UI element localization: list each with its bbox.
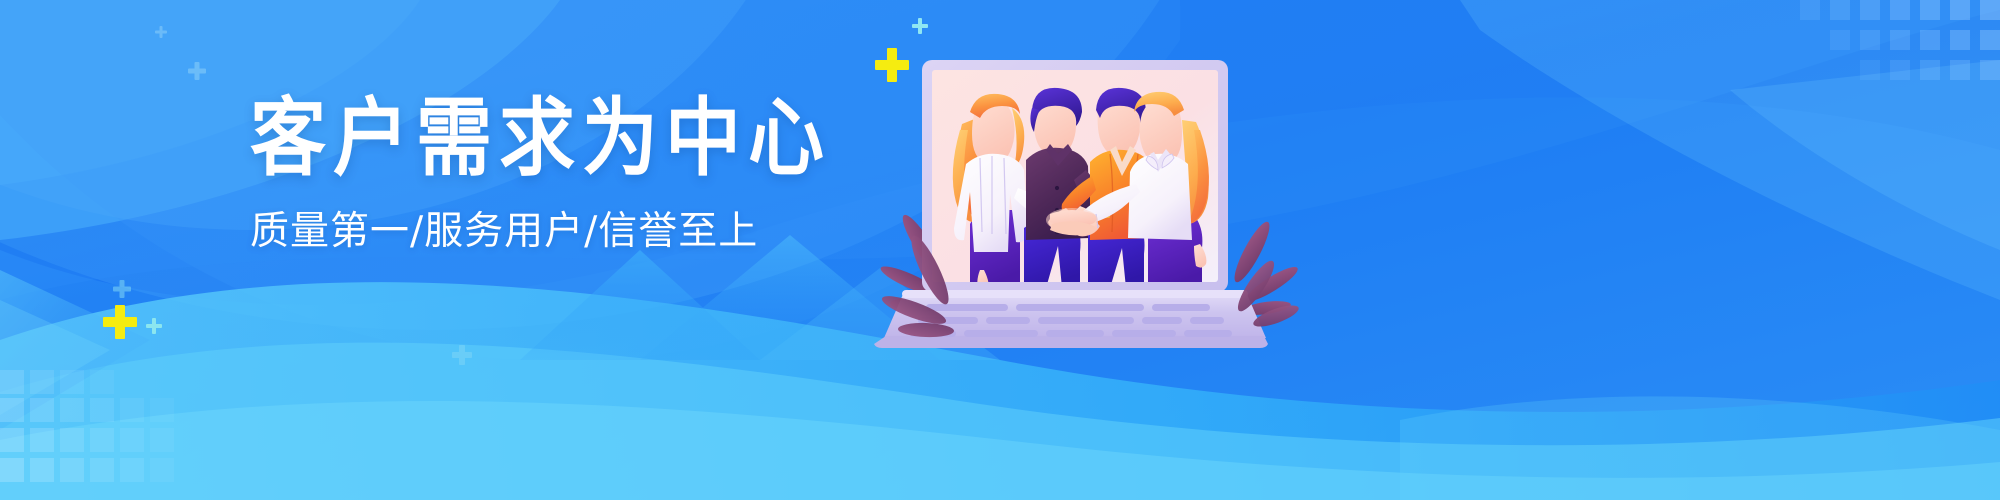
page-title: 客户需求为中心	[250, 96, 810, 181]
sparkle-cyan-small-top	[912, 18, 928, 34]
sparkle-yellow-large-bottom	[103, 305, 137, 339]
sparkle-white-faint-upper	[188, 62, 206, 80]
sparkle-white-faint-small	[155, 26, 167, 38]
sparkle-cyan-bottom-mid	[452, 345, 472, 365]
stacked-hands	[1046, 208, 1098, 235]
dot-grid-top-right	[1800, 0, 2000, 80]
laptop-team-illustration	[900, 38, 1330, 358]
page-subtitle: 质量第一/服务用户/信誉至上	[250, 210, 810, 255]
sparkle-cyan-faint-mid	[113, 280, 131, 298]
sparkle-cyan-small-bottom	[146, 318, 162, 334]
headline-text-block: 客户需求为中心 质量第一/服务用户/信誉至上	[250, 96, 810, 255]
dot-grid-bottom-left	[0, 370, 174, 482]
banner-root: 客户需求为中心 质量第一/服务用户/信誉至上	[0, 0, 2000, 500]
